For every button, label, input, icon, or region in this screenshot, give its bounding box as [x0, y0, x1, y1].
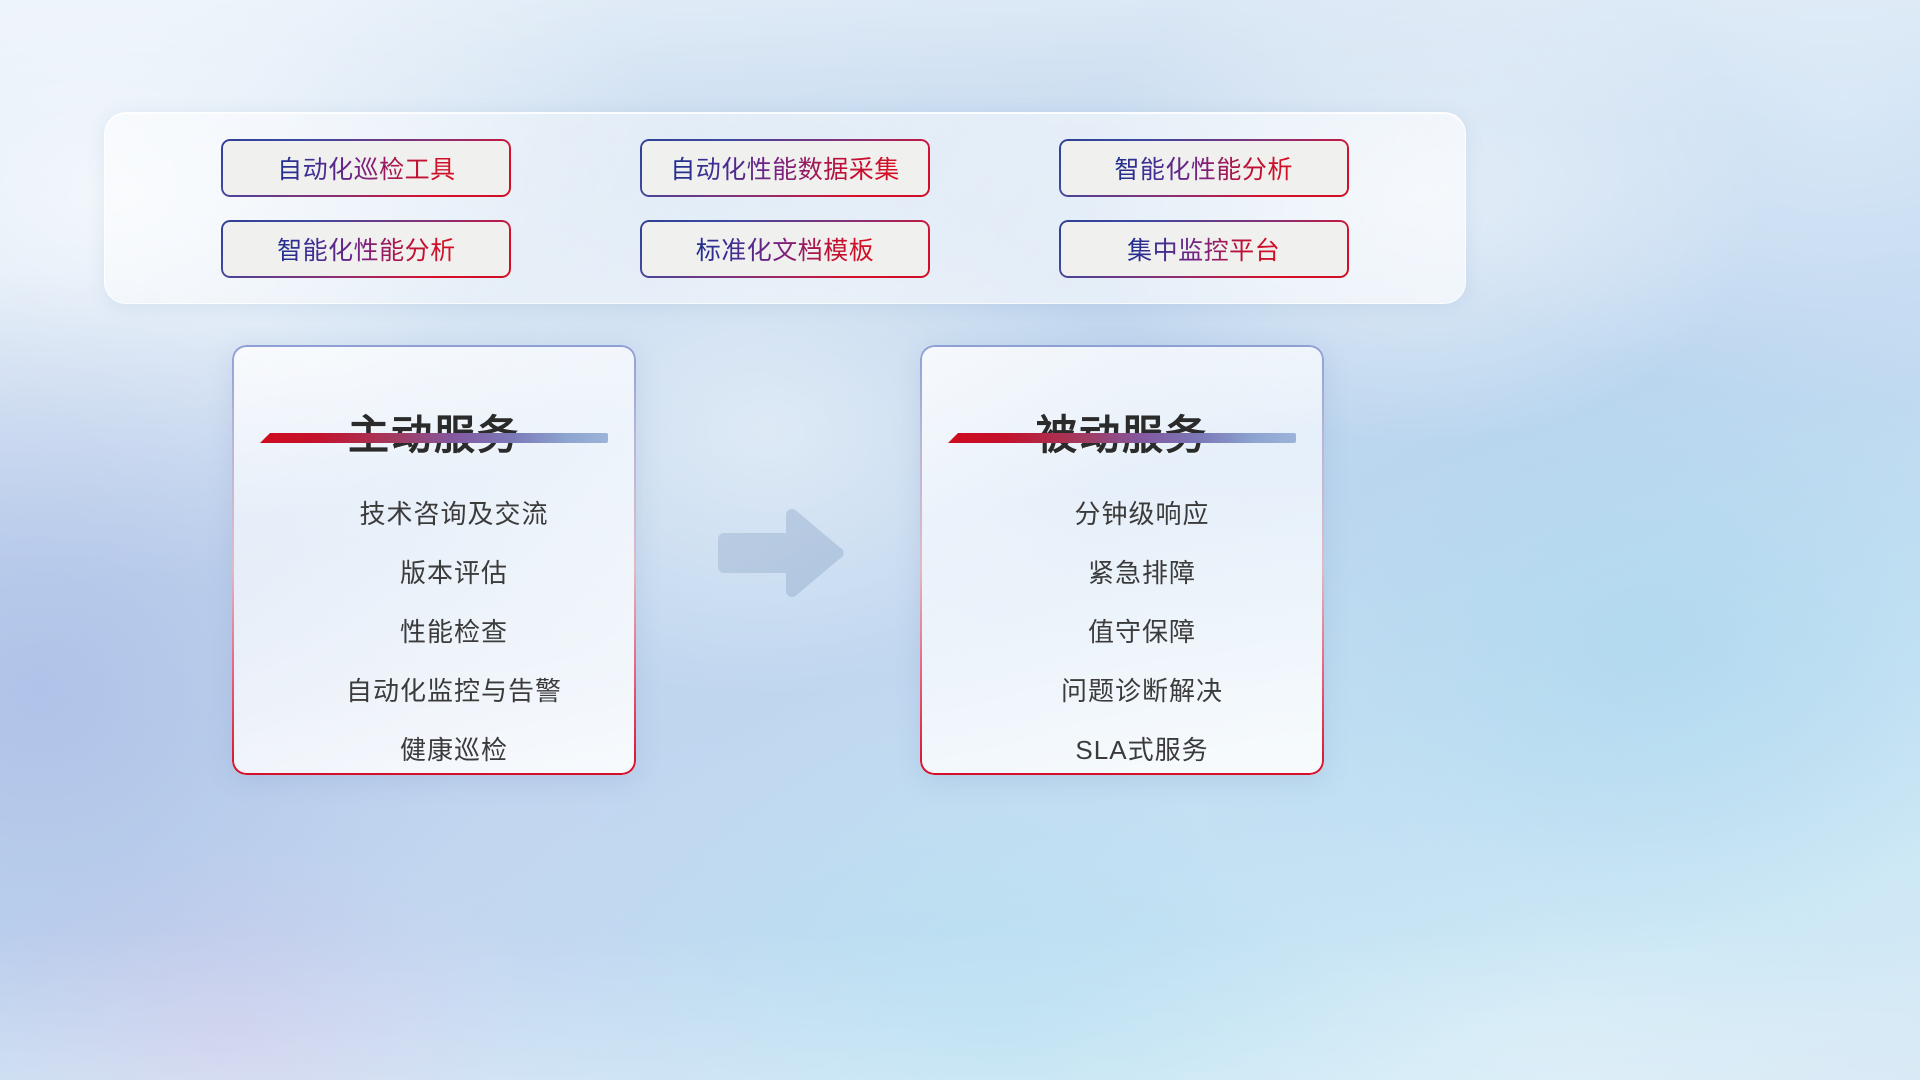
list-item: 版本评估 — [272, 544, 636, 603]
service-card-passive[interactable]: 被动服务 分钟级响应 紧急排障 值守保障 问题诊断解决 SLA式服务 — [920, 345, 1324, 775]
list-item: 分钟级响应 — [960, 485, 1324, 544]
list-item: 问题诊断解决 — [960, 662, 1324, 721]
capability-chip-label: 智能化性能分析 — [1114, 150, 1293, 186]
capability-chips-panel: 自动化巡检工具 自动化性能数据采集 智能化性能分析 智能化性能分析 标准化文档模… — [104, 112, 1466, 304]
capability-chip-label: 标准化文档模板 — [696, 231, 875, 267]
list-item: SLA式服务 — [960, 721, 1324, 775]
service-card-divider — [948, 433, 1296, 443]
list-item: 健康巡检 — [272, 721, 636, 775]
service-card-title: 主动服务 — [232, 401, 636, 461]
list-item: 技术咨询及交流 — [272, 485, 636, 544]
service-card-title: 被动服务 — [920, 401, 1324, 461]
service-card-list: 技术咨询及交流 版本评估 性能检查 自动化监控与告警 健康巡检 — [232, 465, 636, 761]
capability-chip-intelligent-performance-analysis-top[interactable]: 智能化性能分析 — [1059, 139, 1349, 197]
capability-chip-intelligent-performance-analysis-bottom[interactable]: 智能化性能分析 — [221, 220, 511, 278]
capability-chip-label: 集中监控平台 — [1127, 231, 1280, 267]
capability-chip-label: 自动化巡检工具 — [277, 150, 456, 186]
list-item: 紧急排障 — [960, 544, 1324, 603]
list-item: 值守保障 — [960, 603, 1324, 662]
capability-chip-centralized-monitoring-platform[interactable]: 集中监控平台 — [1059, 220, 1349, 278]
list-item: 自动化监控与告警 — [272, 662, 636, 721]
service-card-list: 分钟级响应 紧急排障 值守保障 问题诊断解决 SLA式服务 — [920, 465, 1324, 761]
capability-chip-automated-performance-data-collection[interactable]: 自动化性能数据采集 — [640, 139, 930, 197]
capability-chip-label: 智能化性能分析 — [277, 231, 456, 267]
capability-chip-standardized-document-template[interactable]: 标准化文档模板 — [640, 220, 930, 278]
capability-chips-grid: 自动化巡检工具 自动化性能数据采集 智能化性能分析 智能化性能分析 标准化文档模… — [105, 113, 1465, 303]
arrow-right-icon — [718, 505, 848, 601]
slide-stage: 自动化巡检工具 自动化性能数据采集 智能化性能分析 智能化性能分析 标准化文档模… — [0, 0, 1920, 1080]
capability-chip-automated-inspection-tool[interactable]: 自动化巡检工具 — [221, 139, 511, 197]
service-card-active[interactable]: 主动服务 技术咨询及交流 版本评估 性能检查 自动化监控与告警 健康巡检 — [232, 345, 636, 775]
list-item: 性能检查 — [272, 603, 636, 662]
service-card-divider — [260, 433, 608, 443]
capability-chip-label: 自动化性能数据采集 — [670, 150, 900, 186]
